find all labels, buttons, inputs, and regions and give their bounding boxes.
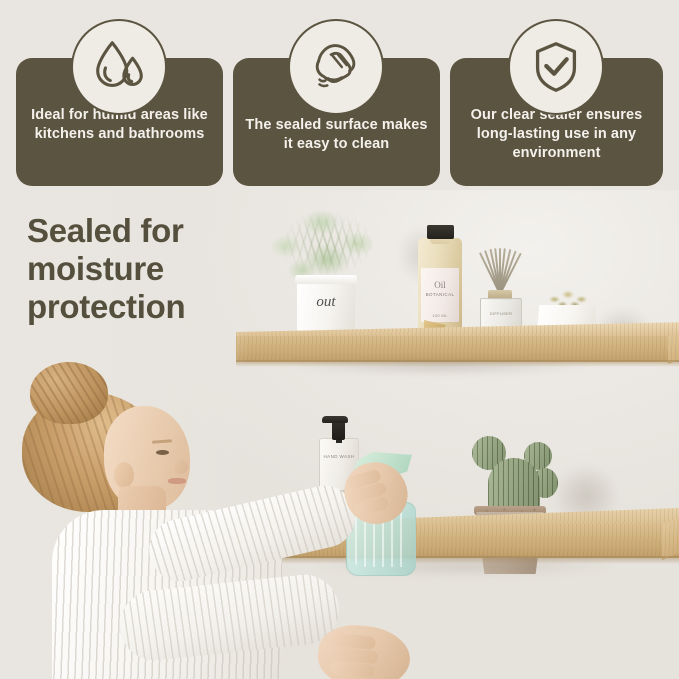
bottle-label-foot: 100 ML [421, 313, 459, 318]
hand-wiping-cloth-icon-badge [288, 19, 384, 115]
hair-bun [30, 362, 108, 424]
shield-check-icon [525, 36, 587, 98]
diffuser-label: DIFFUSER [484, 311, 518, 316]
girl-holding-spray-bottle [0, 358, 400, 679]
feature-card-row: Ideal for humid areas like kitchens and … [0, 0, 679, 190]
water-drop-icon-badge [71, 19, 167, 115]
eyebrow [152, 439, 172, 443]
eye [156, 450, 169, 455]
nose [174, 460, 188, 474]
planter-rim [295, 275, 357, 284]
shield-check-icon-badge [508, 19, 604, 115]
bottle-cap [427, 225, 454, 239]
water-drop-icon [88, 36, 150, 98]
feature-card-easy-clean-text: The sealed surface makes it easy to clea… [233, 116, 440, 154]
hand-wiping-cloth-icon [305, 36, 367, 98]
ear [114, 462, 134, 488]
planter-script-text: out [302, 294, 350, 311]
headline: Sealed for moisture protection [27, 212, 259, 326]
bottle-label: Oil BOTANICAL 100 ML [421, 268, 459, 322]
bottle-label-title: Oil [421, 280, 459, 290]
bottle-label-sub: BOTANICAL [421, 292, 459, 297]
infographic-canvas: Ideal for humid areas like kitchens and … [0, 0, 679, 679]
green-plant-foliage [258, 198, 396, 286]
plant-stems [258, 198, 396, 286]
lips [168, 478, 186, 484]
